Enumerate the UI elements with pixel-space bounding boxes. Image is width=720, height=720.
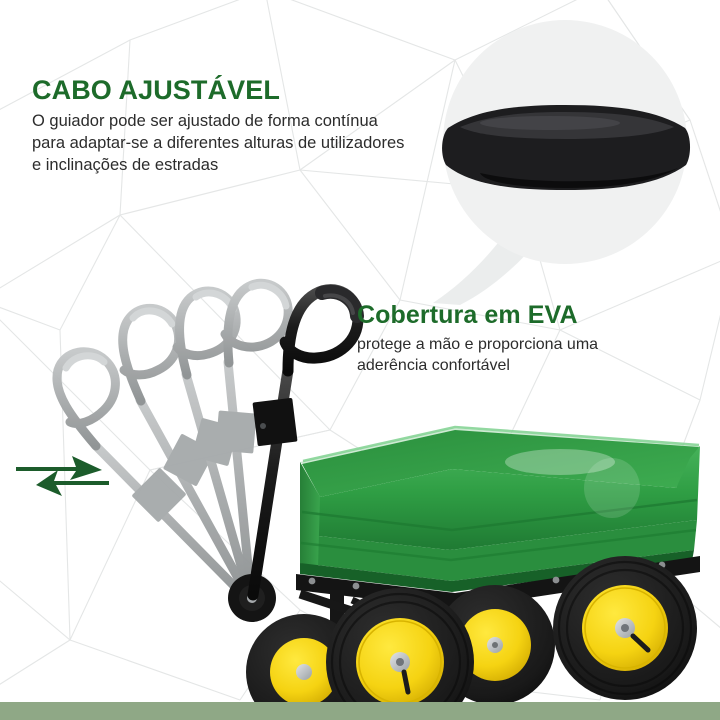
footer-green-band bbox=[0, 702, 720, 720]
callout-cabo-ajustavel: CABO AJUSTÁVEL O guiador pode ser ajusta… bbox=[32, 76, 452, 176]
collar-block-ghost-4 bbox=[215, 410, 256, 453]
arrow-right-icon bbox=[16, 456, 102, 480]
eva-grip-bar bbox=[442, 105, 690, 190]
body-line-cabo-1: O guiador pode ser ajustado de forma con… bbox=[32, 110, 452, 132]
product-feature-graphic: CABO AJUSTÁVEL O guiador pode ser ajusta… bbox=[0, 0, 720, 720]
collar-block-active bbox=[252, 398, 297, 447]
body-line-eva-2: aderência confortável bbox=[357, 355, 687, 376]
wheel-rear-right bbox=[553, 556, 697, 700]
body-line-cabo-2: para adaptar-se a diferentes alturas de … bbox=[32, 132, 452, 154]
heading-cobertura-eva: Cobertura em EVA bbox=[357, 302, 687, 330]
body-line-eva-1: protege a mão e proporciona uma bbox=[357, 334, 687, 355]
arrow-left-icon bbox=[36, 470, 109, 496]
body-line-cabo-3: e inclinações de estradas bbox=[32, 154, 452, 176]
heading-cabo-ajustavel: CABO AJUSTÁVEL bbox=[32, 76, 452, 106]
callout-cobertura-eva: Cobertura em EVA protege a mão e proporc… bbox=[357, 302, 687, 376]
adjustment-arrows-icon bbox=[14, 440, 124, 510]
